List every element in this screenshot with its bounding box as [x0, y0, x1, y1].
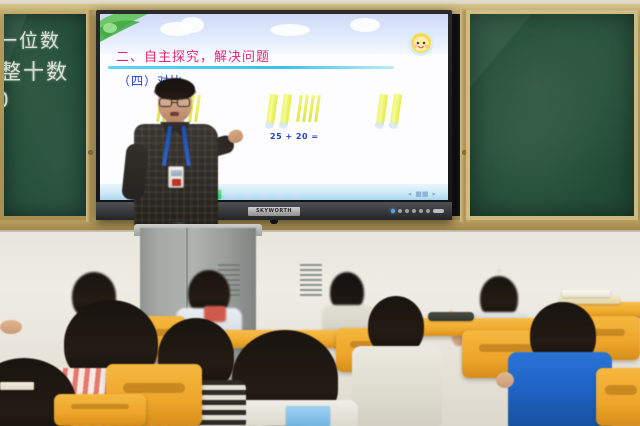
book — [286, 406, 330, 426]
right-chalkboard — [470, 14, 634, 216]
chalk-line-1: 一位数 — [4, 26, 61, 53]
cloud-icon — [270, 24, 310, 36]
glasses-icon — [159, 98, 191, 107]
chalk-line-2: 整十数 — [4, 56, 69, 86]
student-hand — [0, 320, 22, 334]
leaf-decoration-icon — [100, 14, 178, 46]
shape-tool-icon[interactable] — [260, 190, 269, 199]
book — [562, 290, 610, 297]
student-hand — [496, 372, 514, 388]
cloud-icon — [350, 18, 380, 32]
frame-divider-right — [460, 10, 470, 222]
equation-right: 25 + 20 = — [270, 132, 319, 141]
frame-divider-left — [86, 10, 96, 222]
vent-grille-icon — [300, 264, 322, 298]
panel-button[interactable] — [398, 209, 402, 213]
panel-button[interactable] — [419, 209, 423, 213]
page-indicator: ■■ — [415, 190, 428, 198]
frame-screw-icon — [462, 150, 467, 155]
pencil-case — [428, 312, 474, 321]
sun-face-icon — [406, 28, 436, 58]
page-tool-icon[interactable] — [292, 190, 301, 199]
student-body — [352, 346, 442, 426]
slide-title: 二、自主探究，解决问题 — [116, 46, 270, 65]
panel-button[interactable] — [412, 209, 416, 213]
panel-button-wide[interactable] — [433, 209, 444, 213]
teacher-mouth — [170, 112, 179, 116]
next-page-icon[interactable]: ▸ — [432, 190, 436, 198]
power-indicator-icon — [391, 209, 395, 213]
text-tool-icon[interactable] — [276, 190, 285, 199]
chalk-line-3: 0 — [4, 88, 11, 112]
chair — [54, 394, 146, 426]
eraser-tool-icon[interactable] — [244, 190, 253, 199]
ir-sensor-icon — [270, 220, 278, 224]
panel-button[interactable] — [405, 209, 409, 213]
left-chalkboard: 一位数 整十数 0 — [4, 14, 86, 216]
panel-brand-logo: SKYWORTH — [248, 207, 300, 216]
slide-title-underline — [108, 66, 394, 69]
teacher-hair — [155, 78, 195, 100]
classroom-scene: 一位数 整十数 0 — [0, 0, 640, 426]
cloud-icon — [180, 17, 204, 33]
id-badge — [168, 166, 184, 188]
teacher — [118, 78, 236, 228]
panel-button-row[interactable] — [391, 209, 444, 213]
frame-screw-icon — [88, 150, 93, 155]
toolbar-nav-group[interactable]: ◂ ■■ ▸ — [408, 190, 436, 198]
chair — [596, 368, 640, 426]
book — [0, 382, 34, 390]
panel-button[interactable] — [426, 209, 430, 213]
prev-page-icon[interactable]: ◂ — [408, 190, 412, 198]
